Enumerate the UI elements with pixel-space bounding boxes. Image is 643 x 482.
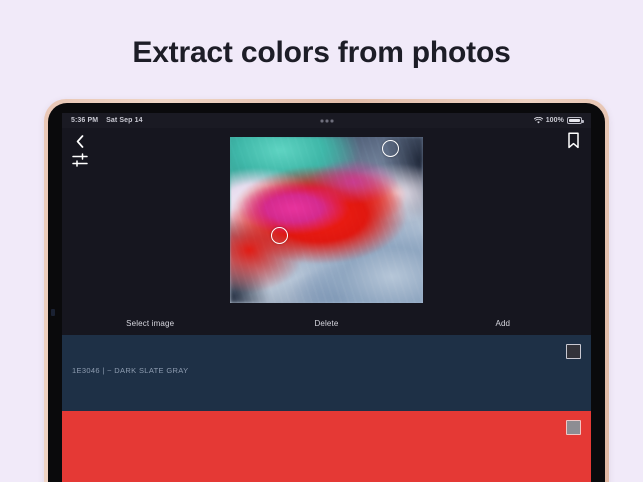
status-bar-right: 100% [534,117,582,124]
color-results-list: 1E3046 | ~ DARK SLATE GRAY [62,335,591,482]
smart-connector-icon [51,309,55,316]
battery-full-icon [567,117,582,124]
page-root: Extract colors from photos 5:36 PM Sat S… [0,0,643,482]
abstract-gradient-photo[interactable] [230,137,423,303]
color-picker-1[interactable] [382,140,399,157]
chevron-left-icon [76,135,84,148]
delete-button[interactable]: Delete [238,319,414,328]
sliders-icon [72,153,88,167]
back-button[interactable] [72,133,88,149]
battery-percent: 100% [546,117,564,124]
color-row-label: 1E3046 | ~ DARK SLATE GRAY [72,366,188,375]
three-dots-handle-icon[interactable] [320,119,333,122]
color-swatch[interactable] [566,344,581,359]
status-bar-left: 5:36 PM Sat Sep 14 [71,117,143,124]
bookmark-button[interactable] [567,132,581,150]
page-title: Extract colors from photos [0,36,643,70]
select-image-button[interactable]: Select image [62,319,238,328]
add-button[interactable]: Add [415,319,591,328]
wifi-icon [534,117,543,124]
tablet-device: 5:36 PM Sat Sep 14 100% [44,99,609,482]
status-time: 5:36 PM [71,117,98,124]
filter-button[interactable] [72,153,88,167]
status-bar: 5:36 PM Sat Sep 14 100% [62,113,591,128]
color-swatch[interactable] [566,420,581,435]
color-row-red[interactable] [62,411,591,482]
color-picker-2[interactable] [271,227,288,244]
app-screen: 5:36 PM Sat Sep 14 100% [62,113,591,482]
status-date: Sat Sep 14 [106,117,142,124]
action-bar: Select image Delete Add [62,311,591,335]
bookmark-icon [567,132,580,149]
tablet-bezel: 5:36 PM Sat Sep 14 100% [48,103,605,482]
color-row-dark-slate-gray[interactable]: 1E3046 | ~ DARK SLATE GRAY [62,335,591,411]
